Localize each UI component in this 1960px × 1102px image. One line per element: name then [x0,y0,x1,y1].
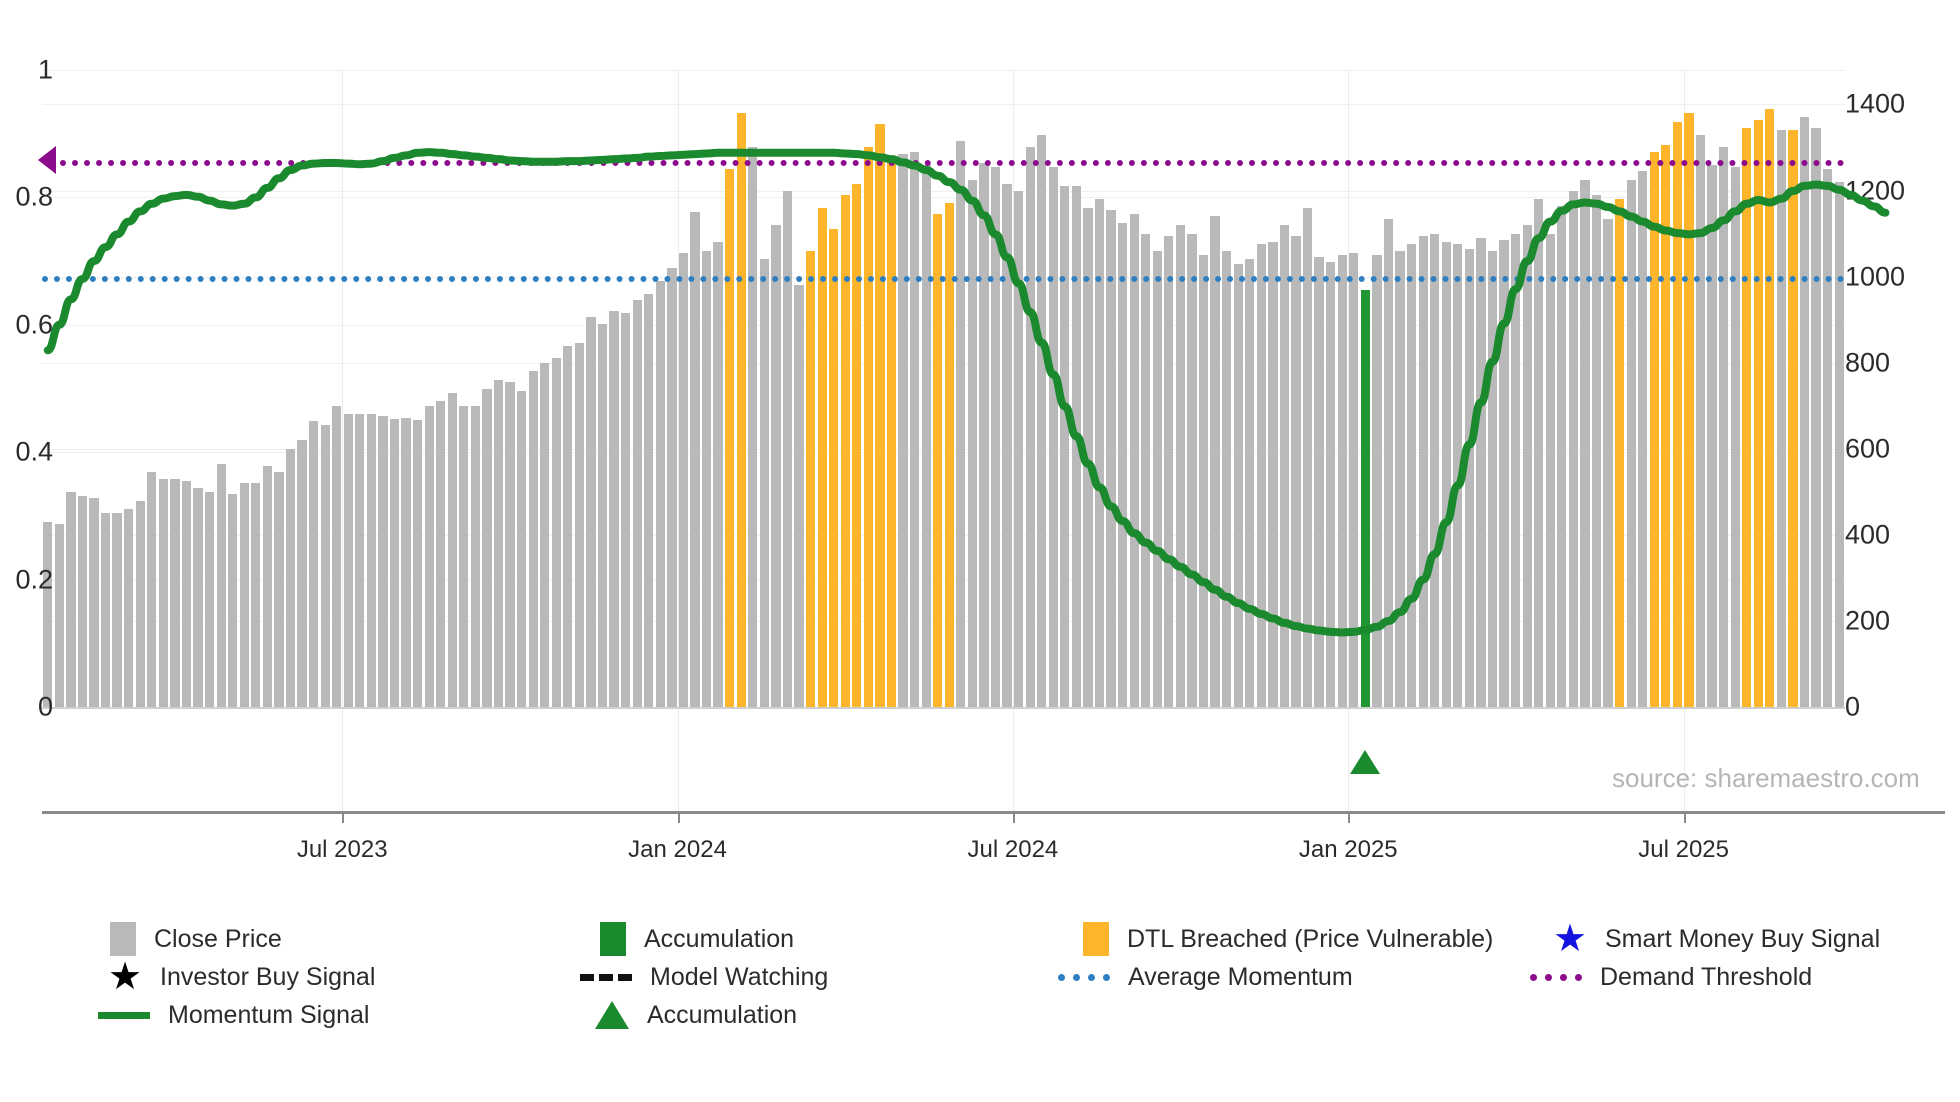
close-price-bar[interactable] [436,401,445,707]
close-price-bar[interactable] [1014,191,1023,707]
close-price-bar[interactable] [1580,180,1589,707]
close-price-bar[interactable] [1407,244,1416,707]
demand-threshold-line [60,160,1845,166]
legend-item-momentum-signal[interactable]: Momentum Signal [98,996,369,1034]
x-axis-line [42,811,1945,814]
legend-label: Momentum Signal [168,1001,369,1030]
gridline [42,104,1845,105]
close-price-bar[interactable] [1453,244,1462,707]
y-axis-left-tick-label: 0.6 [15,309,53,340]
close-price-bar[interactable] [910,152,919,707]
close-price-bar[interactable] [274,472,283,707]
close-price-bar[interactable] [170,479,179,707]
y-axis-right-tick-label: 400 [1845,519,1890,550]
close-price-bar[interactable] [459,406,468,707]
close-price-bar[interactable] [1603,219,1612,708]
close-price-bar[interactable] [193,488,202,708]
close-price-bar[interactable] [66,492,75,707]
close-price-bar[interactable] [748,147,757,707]
dtl-breached-bar[interactable] [1650,152,1659,707]
close-price-bar[interactable] [1026,147,1035,707]
dtl-breached-bar[interactable] [864,147,873,707]
y-axis-left-tick-label: 1 [38,55,53,86]
close-price-bar[interactable] [1800,117,1809,707]
y-axis-left-tick-label: 0.4 [15,437,53,468]
close-price-bar[interactable] [575,343,584,707]
dashed-line-icon [580,974,632,981]
close-price-bar[interactable] [1419,236,1428,707]
close-price-bar[interactable] [494,380,503,707]
dtl-breached-bar[interactable] [1673,122,1682,707]
legend-item-average-momentum[interactable]: Average Momentum [1058,958,1353,996]
close-price-bar[interactable] [1442,242,1451,707]
close-price-bar[interactable] [101,513,110,707]
y-axis-right-tick-label: 0 [1845,692,1860,723]
close-price-bar[interactable] [1176,225,1185,707]
y-axis-right-tick-label: 600 [1845,433,1890,464]
legend-item-accumulation-marker[interactable]: Accumulation [595,996,797,1034]
close-price-bar[interactable] [112,513,121,707]
x-axis-tick [342,811,344,823]
close-price-bar[interactable] [297,440,306,707]
chart-root: 00.20.40.60.81 0200400600800100012001400… [0,0,1960,1102]
legend-row-1: Close Price Accumulation DTL Breached (P… [0,920,1960,958]
x-axis-tick-label: Jul 2023 [297,836,388,864]
close-price-bar[interactable] [1118,223,1127,707]
close-price-bar[interactable] [1280,225,1289,707]
close-price-bar[interactable] [1592,195,1601,707]
close-price-bar[interactable] [898,154,907,707]
legend-item-demand-threshold[interactable]: Demand Threshold [1530,958,1812,996]
close-price-bar[interactable] [1430,234,1439,707]
legend-item-accumulation-bar[interactable]: Accumulation [600,920,794,958]
close-price-bar[interactable] [1106,210,1115,707]
close-price-bar[interactable] [1199,255,1208,707]
close-price-bar[interactable] [783,191,792,707]
dtl-breached-swatch-icon [1083,922,1109,956]
triangle-up-icon [595,1001,629,1029]
close-price-bar[interactable] [1835,182,1844,707]
y-axis-left-tick-label: 0.2 [15,564,53,595]
y-axis-right-tick-label: 1400 [1845,89,1905,120]
close-price-bar[interactable] [1234,264,1243,707]
close-price-bar[interactable] [1141,234,1150,707]
dtl-breached-bar[interactable] [875,124,884,707]
y-axis-right-tick-label: 800 [1845,347,1890,378]
close-price-bar[interactable] [1130,214,1139,707]
legend-item-close-price[interactable]: Close Price [110,920,282,958]
close-price-bar[interactable] [633,300,642,707]
close-price-bar[interactable] [1719,147,1728,707]
close-price-bar[interactable] [1627,180,1636,707]
close-price-bar[interactable] [217,464,226,707]
close-price-bar[interactable] [1257,244,1266,707]
y-axis-right-tick-label: 1200 [1845,175,1905,206]
close-price-bar[interactable] [794,285,803,707]
accumulation-marker[interactable] [1350,750,1380,774]
close-price-bar[interactable] [586,317,595,707]
x-axis-tick-label: Jan 2024 [628,836,727,864]
y-axis-left-tick-label: 0 [38,692,53,723]
close-price-bar[interactable] [991,167,1000,707]
x-axis-tick-label: Jul 2024 [968,836,1059,864]
dtl-breached-bar[interactable] [1661,145,1670,707]
close-price-bar[interactable] [205,492,214,707]
close-price-bar[interactable] [1534,199,1543,707]
close-price-bar[interactable] [228,494,237,707]
accumulation-swatch-icon [600,922,626,956]
close-price-bar[interactable] [355,414,364,707]
dtl-breached-bar[interactable] [887,158,896,707]
y-axis-left-tick-label: 0.8 [15,182,53,213]
dotted-line-icon [1058,974,1110,981]
close-price-bar[interactable] [1499,240,1508,707]
close-price-bar[interactable] [956,141,965,707]
close-price-bar[interactable] [1349,253,1358,707]
zero-baseline [42,707,1845,709]
accumulation-bar[interactable] [1361,290,1370,707]
legend-label: Accumulation [647,1001,797,1030]
legend-label: Close Price [154,925,282,954]
close-price-bar[interactable] [667,268,676,707]
close-price-bar[interactable] [124,509,133,707]
solid-line-icon [98,1012,150,1019]
close-price-bar[interactable] [1245,259,1254,707]
close-price-bar[interactable] [1707,165,1716,707]
close-price-bar[interactable] [1488,251,1497,707]
demand-threshold-start-marker [38,146,56,174]
y-axis-right-tick-label: 1000 [1845,261,1905,292]
close-price-bar[interactable] [690,212,699,707]
close-price-bar[interactable] [55,524,64,707]
close-price-bar[interactable] [1291,236,1300,707]
close-price-bar[interactable] [263,466,272,707]
close-price-bar[interactable] [367,414,376,707]
close-price-bar[interactable] [1002,184,1011,707]
close-price-bar[interactable] [136,501,145,707]
x-axis-tick [1348,811,1350,823]
close-price-bar[interactable] [598,324,607,707]
close-price-bar[interactable] [922,165,931,707]
source-attribution: source: sharemaestro.com [1612,763,1920,794]
close-price-bar[interactable] [1037,135,1046,707]
legend-item-dtl-breached[interactable]: DTL Breached (Price Vulnerable) [1083,920,1493,958]
close-price-bar[interactable] [644,294,653,707]
close-price-bar[interactable] [1187,234,1196,707]
dtl-breached-bar[interactable] [1742,128,1751,707]
gridline [42,70,1845,71]
dtl-breached-bar[interactable] [818,208,827,707]
legend-label: Investor Buy Signal [160,963,375,992]
close-price-bar[interactable] [1072,186,1081,707]
close-price-bar[interactable] [182,481,191,707]
dtl-breached-bar[interactable] [1684,113,1693,707]
legend-item-investor-buy-signal[interactable]: ★ Investor Buy Signal [108,958,375,996]
close-price-bar[interactable] [321,425,330,707]
close-price-bar[interactable] [251,483,260,707]
dtl-breached-bar[interactable] [806,251,815,707]
close-price-bar[interactable] [390,419,399,707]
y-axis-right-tick-label: 200 [1845,605,1890,636]
close-price-bar[interactable] [979,163,988,707]
close-price-bar[interactable] [1049,167,1058,707]
close-price-bar[interactable] [1060,186,1069,707]
legend-label: Model Watching [650,963,828,992]
average-momentum-line [42,276,1845,282]
close-price-bar[interactable] [1083,208,1092,707]
legend-row-2: ★ Investor Buy Signal Model Watching Ave… [0,958,1960,996]
x-axis-tick-label: Jul 2025 [1638,836,1729,864]
x-axis-tick [1684,811,1686,823]
close-price-bar[interactable] [563,346,572,707]
legend-label: Demand Threshold [1600,963,1812,992]
close-price-bar[interactable] [1731,167,1740,707]
close-price-bar[interactable] [771,225,780,707]
star-icon: ★ [1553,922,1587,956]
close-price-bar[interactable] [760,259,769,707]
close-price-bar[interactable] [413,420,422,707]
legend-item-model-watching[interactable]: Model Watching [580,958,828,996]
close-price-bar[interactable] [505,382,514,707]
close-price-bar[interactable] [1523,225,1532,707]
dtl-breached-bar[interactable] [933,214,942,707]
dotted-line-icon [1530,974,1582,981]
close-price-bar[interactable] [1338,255,1347,707]
close-price-bar[interactable] [1164,236,1173,707]
close-price-bar[interactable] [1303,208,1312,707]
close-price-bar[interactable] [344,414,353,707]
close-price-bar[interactable] [286,449,295,707]
dtl-breached-bar[interactable] [725,169,734,707]
close-price-bar[interactable] [1095,199,1104,707]
close-price-bar[interactable] [147,472,156,707]
close-price-bar[interactable] [713,242,722,707]
close-price-bar[interactable] [401,418,410,707]
close-price-bar[interactable] [1569,191,1578,707]
close-price-bar[interactable] [621,313,630,707]
chart-legend: Close Price Accumulation DTL Breached (P… [0,920,1960,1034]
close-price-bar[interactable] [679,253,688,707]
close-price-bar[interactable] [332,406,341,707]
legend-label: DTL Breached (Price Vulnerable) [1127,925,1493,954]
close-price-bar[interactable] [89,498,98,707]
x-axis-tick [678,811,680,823]
close-price-bar[interactable] [1465,249,1474,707]
close-price-bar[interactable] [552,358,561,707]
close-price-bar[interactable] [1476,238,1485,707]
close-price-bar[interactable] [1777,130,1786,707]
close-price-bar[interactable] [529,371,538,707]
dtl-breached-bar[interactable] [852,184,861,707]
close-price-bar[interactable] [1384,219,1393,708]
close-price-bar[interactable] [1546,234,1555,707]
x-axis-tick-label: Jan 2025 [1299,836,1398,864]
dtl-breached-bar[interactable] [829,229,838,707]
close-price-bar[interactable] [43,522,52,707]
dtl-breached-bar[interactable] [1615,199,1624,707]
dtl-breached-bar[interactable] [841,195,850,707]
legend-label: Smart Money Buy Signal [1605,925,1880,954]
close-price-bar[interactable] [1696,135,1705,707]
close-price-bar[interactable] [517,391,526,707]
close-price-bar[interactable] [540,363,549,707]
close-price-bar[interactable] [1326,262,1335,707]
close-price-bar[interactable] [1314,257,1323,707]
star-icon: ★ [108,960,142,994]
close-price-bar[interactable] [1222,251,1231,707]
legend-item-smart-money-buy-signal[interactable]: ★ Smart Money Buy Signal [1553,920,1880,958]
close-price-bar[interactable] [702,251,711,707]
close-price-bar[interactable] [1823,169,1832,707]
close-price-bar[interactable] [1153,251,1162,707]
legend-row-3: Momentum Signal Accumulation [0,996,1960,1034]
close-price-bar[interactable] [482,389,491,708]
close-price-bar[interactable] [159,479,168,707]
close-price-bar[interactable] [425,406,434,707]
close-price-bar[interactable] [656,281,665,707]
close-price-bar[interactable] [240,483,249,707]
close-price-bar[interactable] [1511,234,1520,707]
close-price-bar[interactable] [968,180,977,707]
dtl-breached-bar[interactable] [1765,109,1774,707]
close-price-bar[interactable] [471,406,480,707]
legend-label: Accumulation [644,925,794,954]
close-price-bar[interactable] [448,393,457,707]
close-price-bar[interactable] [378,416,387,707]
x-axis-tick [1013,811,1015,823]
dtl-breached-bar[interactable] [737,113,746,707]
dtl-breached-bar[interactable] [1754,120,1763,708]
close-price-bar[interactable] [1395,251,1404,707]
dtl-breached-bar[interactable] [1788,130,1797,707]
close-price-bar[interactable] [1638,171,1647,707]
close-price-bar[interactable] [1210,216,1219,707]
close-price-bar[interactable] [609,311,618,707]
close-price-bar[interactable] [78,496,87,707]
close-price-bar[interactable] [1372,255,1381,707]
legend-label: Average Momentum [1128,963,1353,992]
close-price-bar[interactable] [1811,128,1820,707]
close-price-swatch-icon [110,922,136,956]
close-price-bar[interactable] [309,421,318,707]
close-price-bar[interactable] [1268,242,1277,707]
